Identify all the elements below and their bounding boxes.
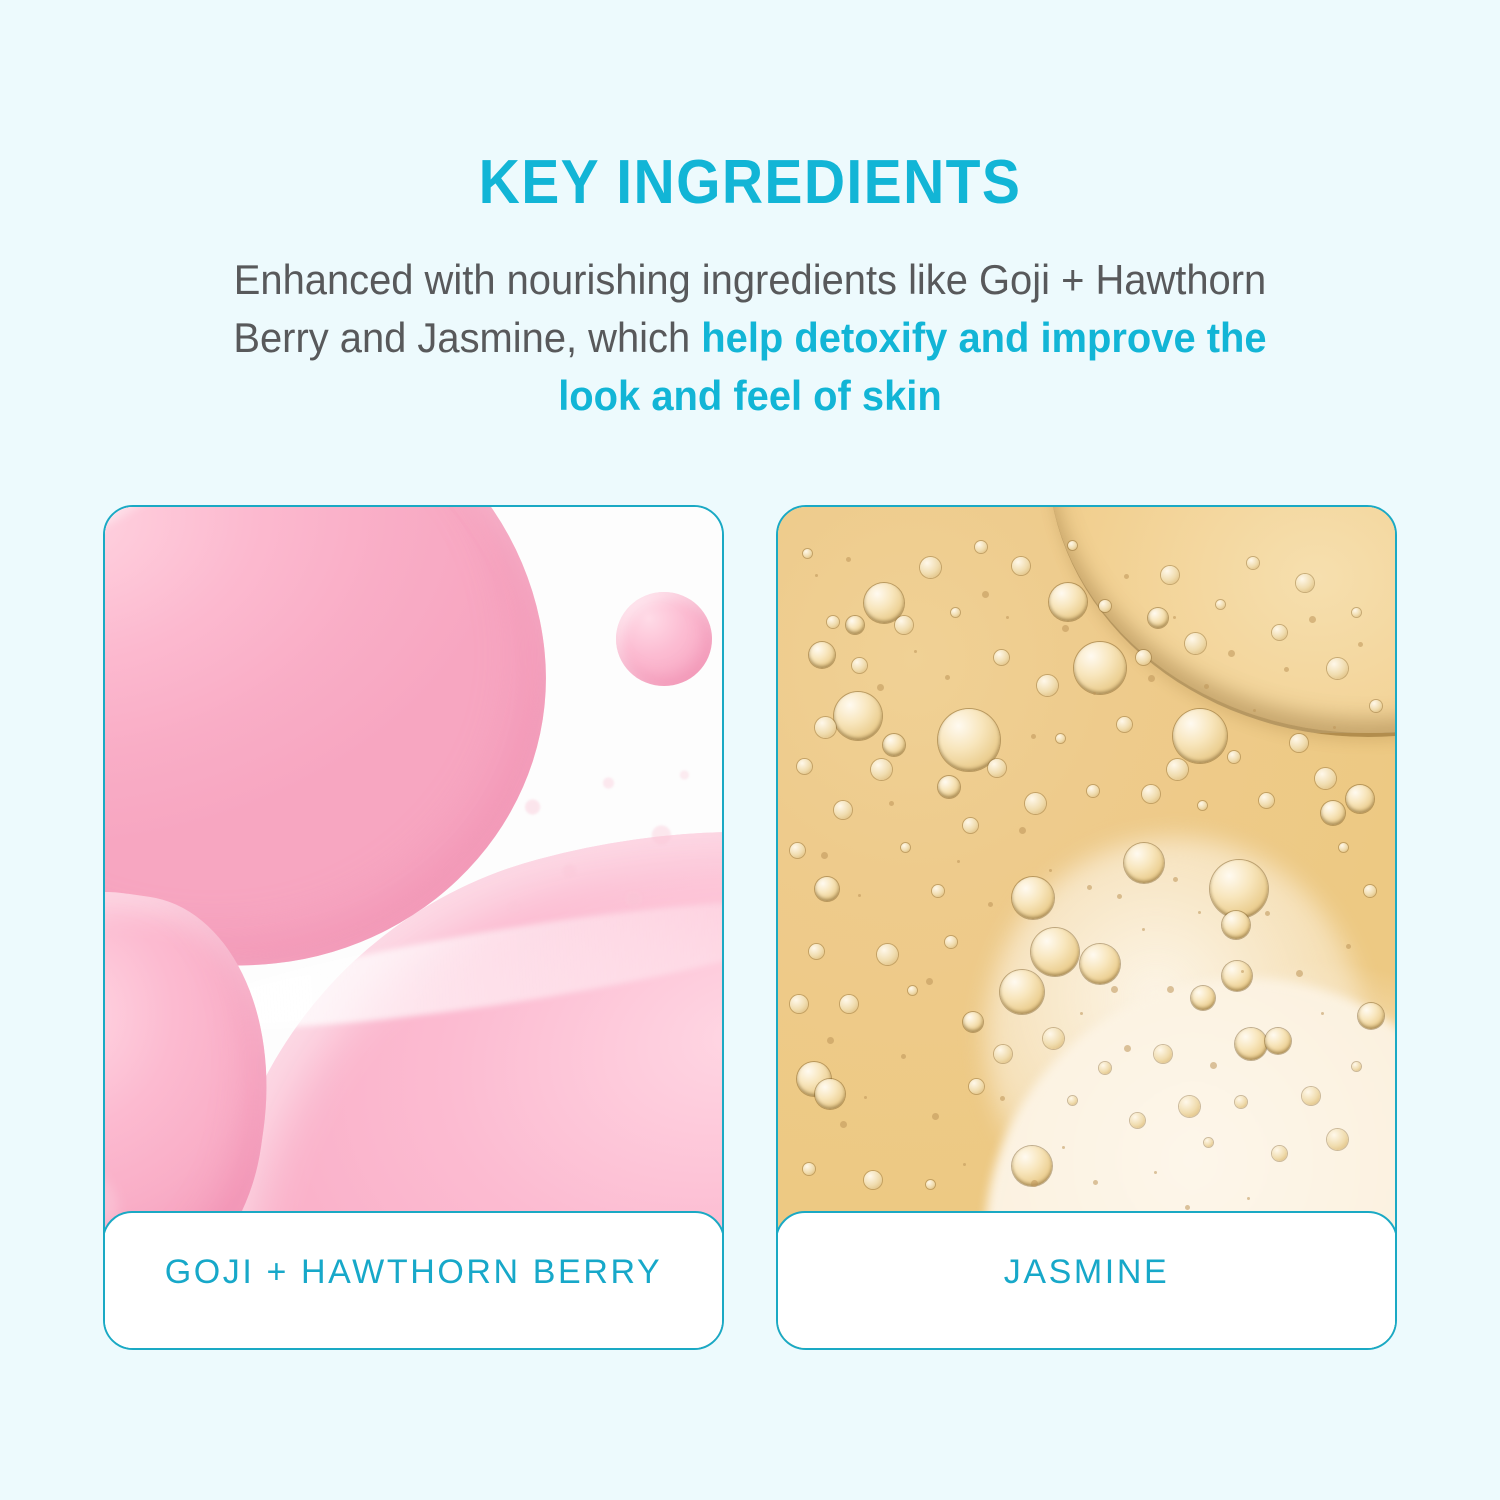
oil-bubble-small [994, 1045, 1012, 1063]
oil-bubble-tiny [945, 675, 950, 680]
oil-bubble-tiny [1346, 944, 1351, 949]
oil-bubble-small [895, 616, 913, 634]
oil-bubble-tiny [932, 1113, 939, 1120]
oil-bubble-small [1204, 1138, 1213, 1147]
oil-bubble-tiny [1265, 911, 1270, 916]
oil-bubble [963, 1012, 983, 1032]
oil-bubble-tiny [1000, 1096, 1005, 1101]
oil-bubble-tiny [858, 894, 861, 897]
oil-bubble [834, 692, 882, 740]
oil-bubble [1321, 801, 1345, 825]
oil-bubble-tiny [1247, 1197, 1250, 1200]
oil-bubble-small [901, 843, 910, 852]
oil-bubble-small [1117, 717, 1132, 732]
oil-bubble-small [1198, 801, 1207, 810]
oil-bubble-small [809, 944, 824, 959]
oil-bubble-tiny [1062, 1146, 1065, 1149]
oil-bubble [1191, 986, 1215, 1010]
oil-bubble-tiny [1111, 986, 1118, 993]
ingredient-card-goji[interactable]: GOJI + HAWTHORN BERRY [103, 505, 724, 1350]
oil-bubble [1346, 785, 1374, 813]
oil-bubble-small [797, 759, 812, 774]
oil-bubble-small [1235, 1096, 1247, 1108]
oil-bubble-small [1179, 1096, 1200, 1117]
oil-bubble-tiny [1228, 650, 1235, 657]
oil-bubble [1173, 709, 1227, 763]
oil-bubble-tiny [1006, 616, 1009, 619]
oil-bubble-tiny [1296, 970, 1303, 977]
oil-bubble-small [834, 801, 852, 819]
oil-bubble-tiny [815, 574, 818, 577]
oil-bubble-small [945, 936, 957, 948]
oil-bubble-small [1272, 625, 1287, 640]
oil-bubble [809, 642, 835, 668]
oil-bubble-tiny [1124, 574, 1129, 579]
oil-bubble-small [908, 986, 917, 995]
oil-bubble-small [932, 885, 944, 897]
card-label-panel-jasmine: JASMINE [776, 1211, 1397, 1350]
oil-bubble [1049, 583, 1087, 621]
oil-bubble-small [1136, 650, 1151, 665]
oil-bubble-tiny [1173, 616, 1176, 619]
oil-bubble-small [1099, 600, 1111, 612]
oil-bubble [815, 1079, 845, 1109]
oil-bubble-small [975, 541, 987, 553]
oil-bubble-tiny [1080, 1012, 1083, 1015]
oil-bubble-small [1043, 1028, 1064, 1049]
oil-bubble-tiny [1198, 911, 1201, 914]
oil-bubble-tiny [1173, 877, 1178, 882]
oil-bubble-small [1247, 557, 1259, 569]
oil-bubble [883, 734, 905, 756]
oil-bubble-tiny [1253, 709, 1256, 712]
oil-bubble-small [1142, 785, 1160, 803]
oil-bubble-small [1327, 1129, 1348, 1150]
oil-bubble [1358, 1003, 1384, 1029]
oil-bubble [1012, 877, 1054, 919]
oil-bubble [815, 877, 839, 901]
oil-bubble-tiny [1031, 1180, 1038, 1187]
oil-bubble-small [1272, 1146, 1287, 1161]
oil-bubble-small [926, 1180, 935, 1189]
oil-bubble-small [790, 843, 805, 858]
oil-bubble [1222, 961, 1252, 991]
oil-bubble-small [1161, 566, 1179, 584]
oil-bubble [1148, 608, 1168, 628]
oil-bubble-tiny [1210, 1062, 1217, 1069]
oil-bubble-small [1068, 1096, 1077, 1105]
oil-bubble-tiny [957, 860, 960, 863]
oil-bubble-tiny [827, 1037, 834, 1044]
card-label-panel-goji: GOJI + HAWTHORN BERRY [103, 1211, 724, 1350]
oil-bubble-tiny [901, 1054, 906, 1059]
oil-bubble-tiny [1358, 642, 1363, 647]
oil-bubble-tiny [1241, 970, 1244, 973]
oil-bubble-small [1228, 751, 1240, 763]
card-label-jasmine: JASMINE [1004, 1253, 1170, 1292]
oil-bubble-tiny [1167, 986, 1174, 993]
oil-bubble-small [1037, 675, 1058, 696]
oil-bubble-small [963, 818, 978, 833]
ingredients-page: KEY INGREDIENTS Enhanced with nourishing… [0, 0, 1500, 1500]
oil-bubble-tiny [1062, 625, 1069, 632]
oil-bubble-tiny [914, 650, 917, 653]
oil-bubble-tiny [1309, 616, 1316, 623]
card-label-goji: GOJI + HAWTHORN BERRY [165, 1253, 663, 1292]
oil-bubble-small [1185, 633, 1206, 654]
oil-bubble [1074, 642, 1126, 694]
oil-bubble [1222, 911, 1250, 939]
oil-bubble-tiny [846, 557, 851, 562]
oil-bubble-small [1364, 885, 1376, 897]
oil-bubble-small [877, 944, 898, 965]
oil-bubble-small [951, 608, 960, 617]
oil-bubble-tiny [963, 1163, 966, 1166]
oil-bubble-tiny [1333, 726, 1336, 729]
oil-bubble-tiny [1321, 1012, 1324, 1015]
oil-bubble-tiny [877, 684, 884, 691]
oil-bubble-small [920, 557, 941, 578]
oil-bubble-tiny [1087, 885, 1092, 890]
oil-bubble [846, 616, 864, 634]
oil-bubble-tiny [1284, 667, 1289, 672]
oil-bubble-tiny [1204, 684, 1209, 689]
oil-bubble [1235, 1028, 1267, 1060]
oil-bubble [1265, 1028, 1291, 1054]
oil-bubble-small [1012, 557, 1030, 575]
oil-bubble-tiny [1124, 1045, 1131, 1052]
oil-bubble-small [1025, 793, 1046, 814]
oil-bubble-tiny [988, 902, 993, 907]
oil-bubble-small [1154, 1045, 1172, 1063]
oil-bubble-tiny [889, 801, 894, 806]
oil-bubble-small [1167, 759, 1188, 780]
oil-bubble-small [969, 1079, 984, 1094]
ingredient-card-row: GOJI + HAWTHORN BERRY JASMINE [103, 505, 1397, 1350]
oil-bubble-small [827, 616, 839, 628]
oil-bubble [1124, 843, 1164, 883]
oil-bubble-small [840, 995, 858, 1013]
oil-bubble-small [790, 995, 808, 1013]
oil-bubble-small [1087, 785, 1099, 797]
oil-bubble-small [1315, 768, 1336, 789]
oil-bubble-tiny [1154, 1171, 1157, 1174]
oil-bubble-small [803, 549, 812, 558]
oil-bubble-small [1296, 574, 1314, 592]
pink-droplet-small-round [616, 592, 712, 686]
oil-bubble-small [803, 1163, 815, 1175]
oil-bubble-small [1259, 793, 1274, 808]
oil-bubble-small [852, 658, 867, 673]
oil-bubble-small [1130, 1113, 1145, 1128]
page-title: KEY INGREDIENTS [60, 150, 1440, 215]
oil-bubble-small [994, 650, 1009, 665]
oil-bubble-tiny [1185, 1205, 1190, 1210]
oil-bubble-small [1302, 1087, 1320, 1105]
oil-bubble [1210, 860, 1268, 918]
oil-bubble-small [1068, 541, 1077, 550]
oil-bubble-tiny [1093, 1180, 1098, 1185]
page-subtitle: Enhanced with nourishing ingredients lik… [190, 251, 1311, 425]
oil-bubble-tiny [926, 978, 933, 985]
header: KEY INGREDIENTS Enhanced with nourishing… [0, 150, 1500, 425]
oil-bubble-small [1352, 1062, 1361, 1071]
oil-bubble [1031, 928, 1079, 976]
oil-bubble-small [871, 759, 892, 780]
oil-bubble-tiny [840, 1121, 847, 1128]
oil-bubble-small [1290, 734, 1308, 752]
oil-bubble-tiny [1031, 734, 1036, 739]
oil-bubble-small [1352, 608, 1361, 617]
oil-bubble-tiny [864, 1096, 867, 1099]
oil-bubble-small [815, 717, 836, 738]
oil-bubble-small [1327, 658, 1348, 679]
oil-bubble-tiny [1117, 894, 1122, 899]
oil-bubble-tiny [982, 591, 989, 598]
oil-bubble-tiny [1019, 827, 1026, 834]
oil-bubble-tiny [1093, 692, 1096, 695]
oil-bubble-small [1339, 843, 1348, 852]
oil-bubble-tiny [821, 852, 828, 859]
oil-bubble-small [1216, 600, 1225, 609]
oil-bubble-small [864, 1171, 882, 1189]
oil-bubble-tiny [1049, 869, 1052, 872]
oil-bubble-small [1056, 734, 1065, 743]
oil-bubble [1080, 944, 1120, 984]
oil-bubble [938, 776, 960, 798]
oil-bubble-small [988, 759, 1006, 777]
oil-bubble-tiny [1142, 928, 1145, 931]
oil-bubble [1000, 970, 1044, 1014]
oil-bubble-tiny [1148, 675, 1155, 682]
oil-bubble-small [1099, 1062, 1111, 1074]
oil-bubble-small [1370, 700, 1382, 712]
ingredient-card-jasmine[interactable]: JASMINE [776, 505, 1397, 1350]
